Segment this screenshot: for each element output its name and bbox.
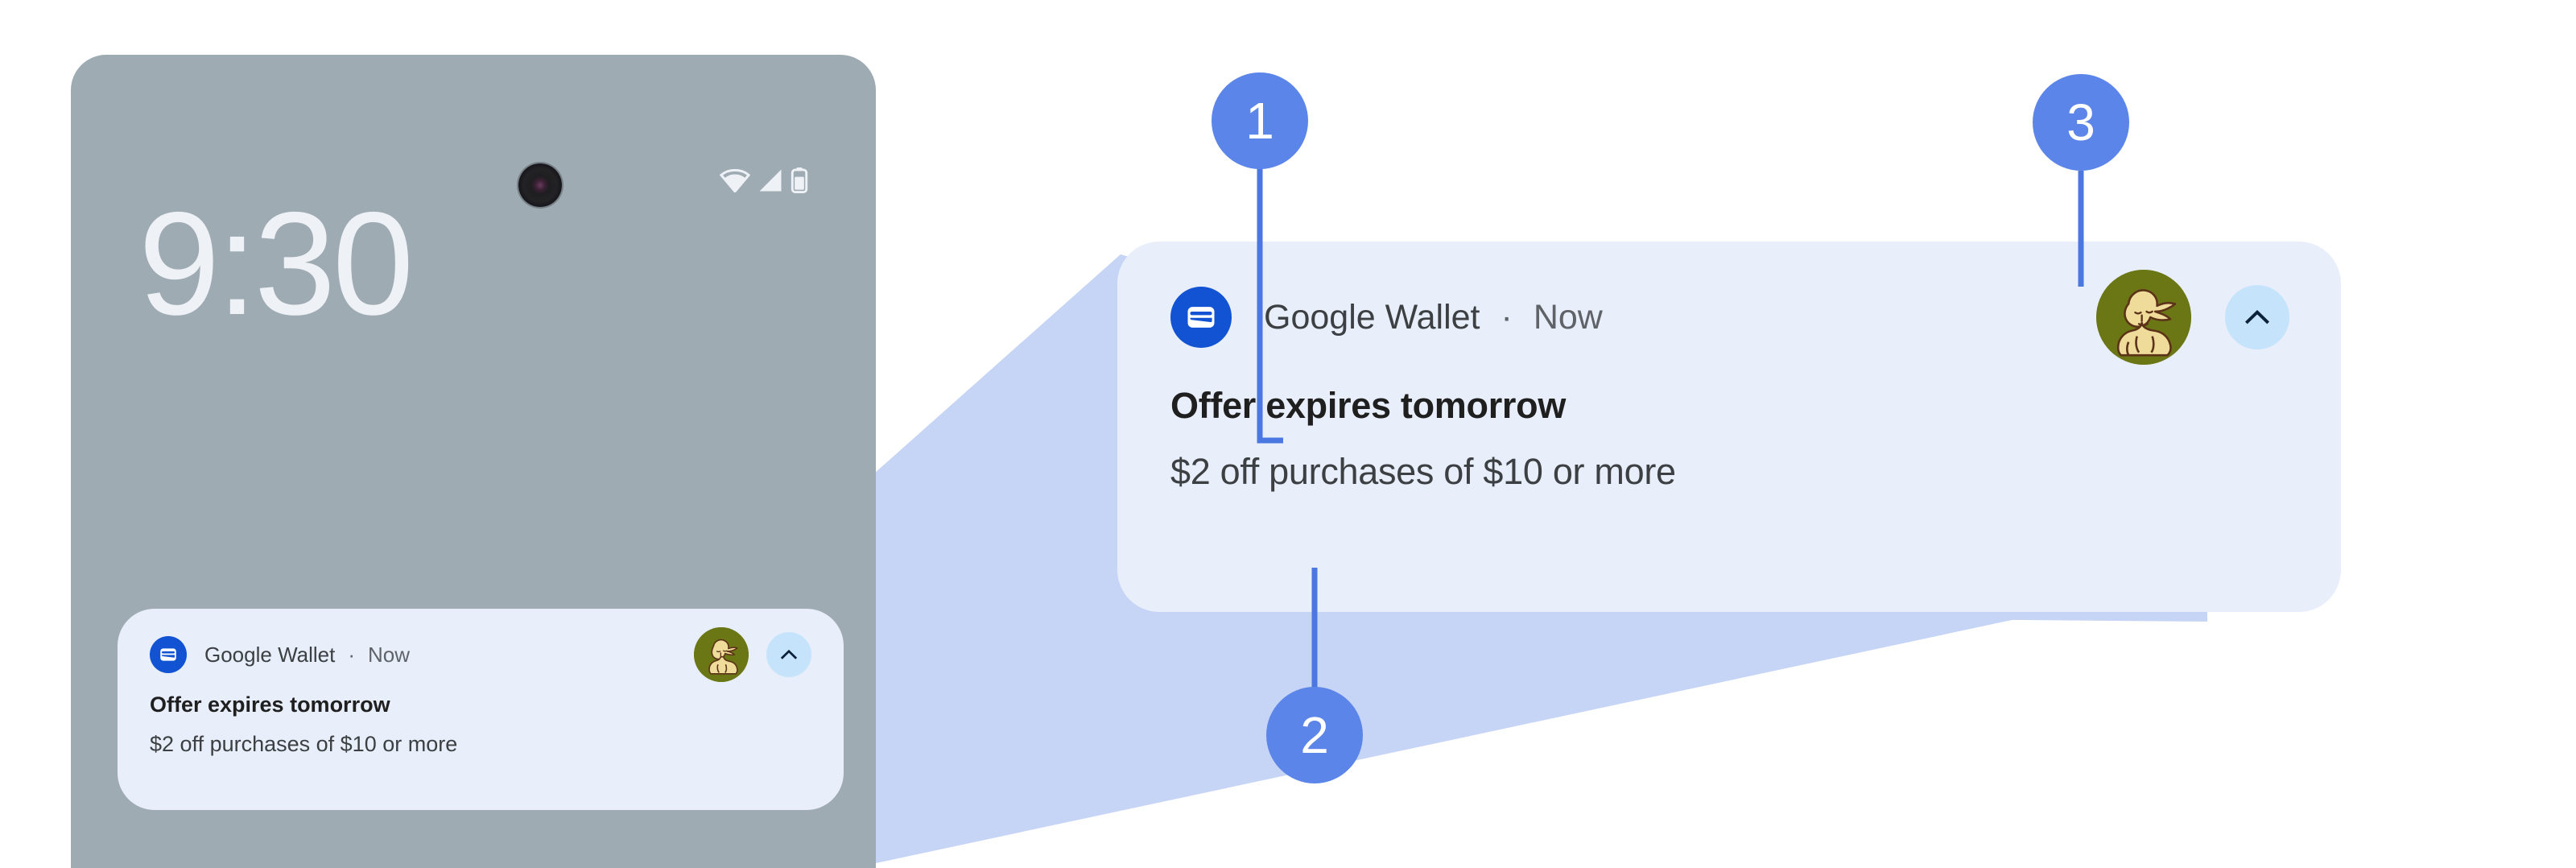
callout-3-number: 3: [2066, 97, 2095, 148]
merchant-avatar-icon: [694, 627, 749, 682]
expand-notification-button-small[interactable]: [766, 632, 811, 677]
status-bar: [720, 167, 808, 197]
notification-separator: ·: [1501, 300, 1512, 335]
notification-card-small[interactable]: Google Wallet · Now: [118, 609, 844, 810]
battery-icon: [791, 167, 808, 197]
illustration-canvas: 9:30 Google Wallet · Now: [0, 0, 2576, 863]
phone-mockup: 9:30 Google Wallet · Now: [71, 55, 876, 868]
chevron-up-icon: [2240, 300, 2274, 334]
notification-header-small: Google Wallet · Now: [150, 636, 811, 673]
callout-2: 2: [1266, 687, 1363, 783]
notification-body: $2 off purchases of $10 or more: [1170, 451, 2289, 493]
notification-separator: ·: [348, 644, 355, 665]
google-wallet-icon: [1170, 287, 1232, 348]
notification-title: Offer expires tomorrow: [1170, 385, 2289, 427]
notification-timestamp: Now: [368, 643, 410, 668]
lockscreen-clock: 9:30: [138, 190, 411, 337]
notification-app-name: Google Wallet: [1264, 298, 1480, 337]
notification-timestamp: Now: [1534, 298, 1603, 337]
notification-title-small: Offer expires tomorrow: [150, 692, 811, 717]
chevron-up-icon: [778, 643, 800, 666]
callout-1-number: 1: [1245, 95, 1274, 147]
google-wallet-icon: [150, 636, 187, 673]
front-camera-icon: [518, 163, 562, 207]
callout-2-number: 2: [1300, 709, 1329, 761]
cell-signal-icon: [757, 168, 784, 196]
notification-app-name: Google Wallet: [204, 643, 335, 668]
notification-body-small: $2 off purchases of $10 or more: [150, 732, 811, 757]
merchant-avatar-icon: [2096, 270, 2191, 365]
notification-card-enlarged[interactable]: Google Wallet · Now: [1117, 242, 2341, 612]
callout-1: 1: [1212, 72, 1308, 169]
expand-notification-button[interactable]: [2225, 285, 2289, 349]
wifi-icon: [720, 168, 750, 196]
notification-header: Google Wallet · Now: [1170, 287, 2289, 348]
callout-3: 3: [2033, 74, 2129, 171]
